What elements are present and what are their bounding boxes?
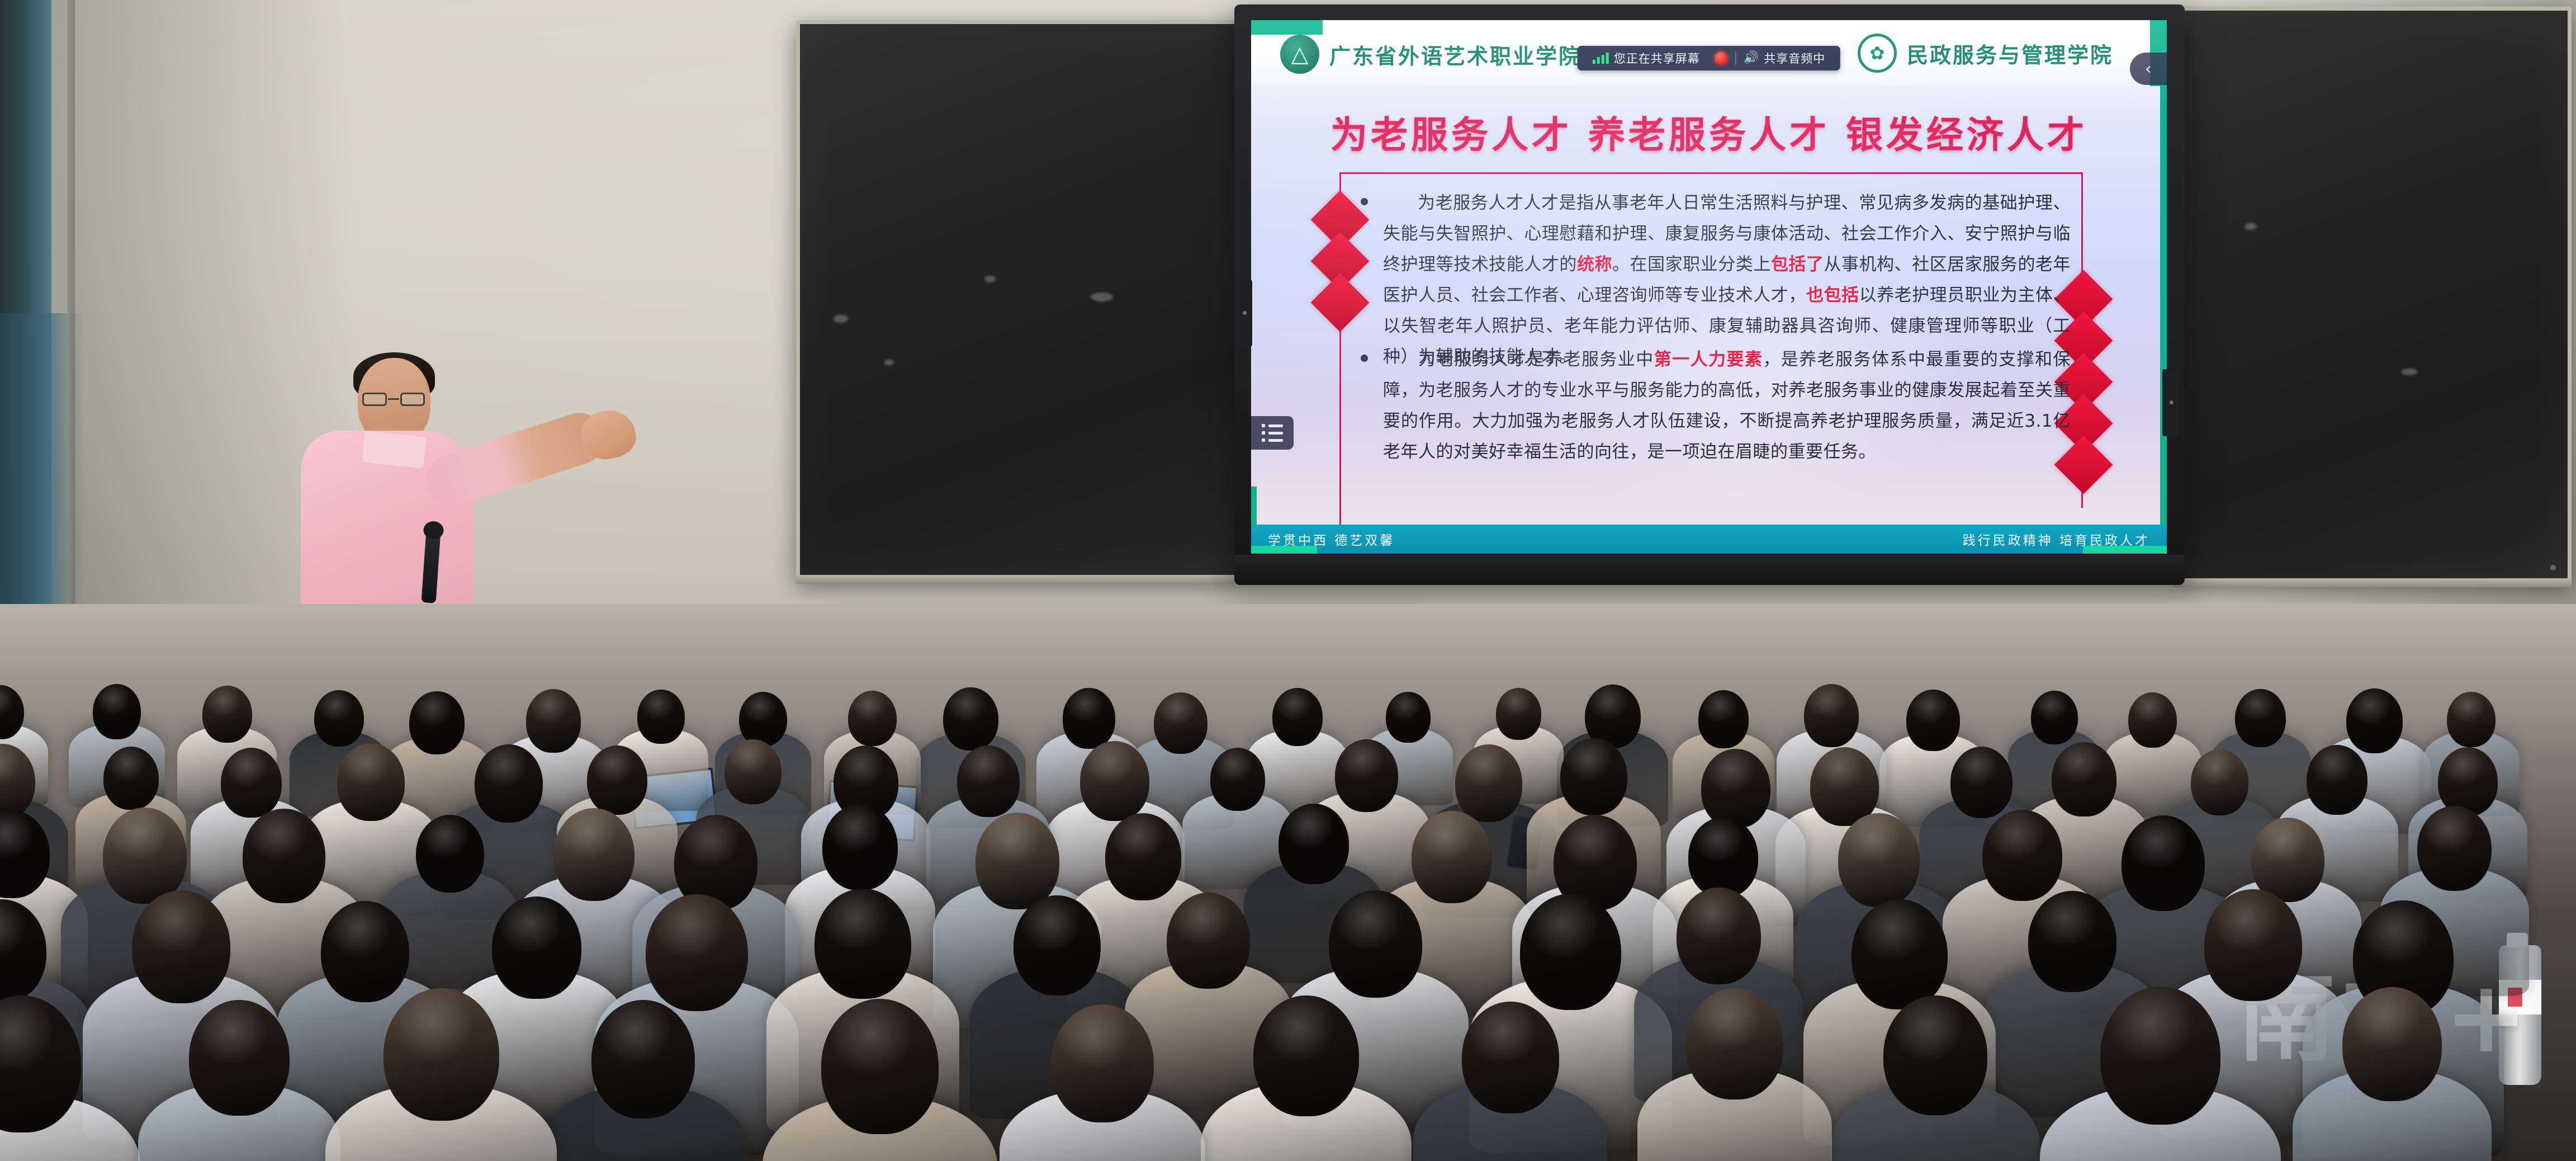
audience-head (1063, 688, 1116, 748)
institute-logo: ✿ 民政服务与管理学院 (1858, 34, 2113, 73)
audience-area (0, 604, 2576, 1161)
highlighted-text: 统称 (1577, 254, 1612, 275)
audience-head (1688, 817, 1759, 898)
display-screen[interactable]: △ 广东省外语艺术职业学院 ✿ 民政服务与管理学院 您正在共享屏幕 (1251, 20, 2167, 554)
blackboard-right (2173, 7, 2572, 583)
audience-head (321, 901, 409, 1002)
audience-head (2128, 692, 2177, 748)
audience-head (492, 896, 581, 999)
list-menu-icon[interactable] (1251, 416, 1294, 450)
audience-head (243, 809, 325, 903)
audience-head (1560, 738, 1627, 815)
audience-head (587, 745, 647, 815)
audience-head (1906, 690, 1960, 751)
audience-head (1804, 684, 1859, 747)
audio-status-text: 共享音频中 (1764, 50, 1825, 67)
footer-accent-right (2083, 546, 2167, 554)
audience-head (314, 690, 363, 747)
audience-head (957, 745, 1020, 817)
audience-head (1701, 749, 1770, 828)
audience-member (1201, 995, 1412, 1161)
screen-share-indicator[interactable]: 您正在共享屏幕 🔊 共享音频中 (1578, 46, 1840, 70)
audience-head (202, 686, 252, 743)
audience-head (1950, 747, 2012, 818)
audience-member (539, 1000, 747, 1161)
presenter-arm (420, 406, 612, 512)
audience-head (591, 1000, 695, 1119)
audience-head (1210, 748, 1266, 811)
speaker-icon: 🔊 (1744, 52, 1759, 64)
audience-head (1014, 895, 1101, 995)
audience-head (1167, 893, 1251, 989)
slide-title: 为老服务人才 养老服务人才 银发经济人才 (1251, 105, 2167, 159)
audience-head (1278, 804, 1348, 884)
audience-head (1253, 995, 1358, 1116)
record-dot-icon[interactable] (1715, 51, 1728, 65)
university-crest-icon: △ (1280, 35, 1319, 74)
bullet-marker (1361, 355, 1368, 362)
audience-head (1080, 741, 1150, 821)
display-side-button-left[interactable] (1235, 280, 1252, 347)
audience-head (2235, 689, 2286, 747)
presenter-collar (362, 431, 426, 468)
door-frame (67, 0, 75, 699)
audience-member (763, 999, 998, 1161)
audience-head (646, 894, 747, 1011)
audience-head (1412, 811, 1492, 903)
audience-head (848, 691, 897, 746)
audience-head (821, 999, 939, 1134)
audience-head (943, 687, 998, 751)
audience-member (1637, 988, 1832, 1161)
slide-accent-edge-right (2160, 20, 2167, 554)
audience-head (2342, 987, 2442, 1101)
display-side-button-right[interactable] (2162, 369, 2179, 436)
audience-head (2417, 806, 2492, 891)
record-segment[interactable] (1707, 51, 1735, 65)
audience-head (1851, 899, 1948, 1009)
audience-head (2028, 891, 2116, 992)
institute-crest-icon: ✿ (1858, 34, 1897, 73)
chalk-tray-right (2173, 578, 2572, 587)
audience-head (416, 815, 484, 893)
audience-head (1386, 692, 1430, 743)
audience-member (2040, 987, 2281, 1161)
audience-head (1496, 688, 1541, 740)
footer-accent-left (1251, 546, 1317, 554)
audience-head (1838, 813, 1920, 907)
blackboard-left (796, 20, 1243, 579)
audience-head (2031, 691, 2077, 744)
presentation-slide: △ 广东省外语艺术职业学院 ✿ 民政服务与管理学院 您正在共享屏幕 (1251, 20, 2167, 554)
audience-head (739, 692, 787, 747)
audience-head (526, 689, 581, 752)
share-status-text: 您正在共享屏幕 (1614, 50, 1700, 67)
slide-footer: 学贯中西 德艺双馨 践行民政精神 培育民政人才 (1251, 525, 2167, 554)
audience-head (189, 1000, 290, 1116)
chevron-left-icon[interactable]: ‹ (2130, 53, 2167, 85)
audience-head (1677, 888, 1761, 984)
audience-head (132, 890, 230, 1003)
display-chin (1234, 555, 2185, 585)
highlighted-text: 也包括 (1806, 285, 1859, 305)
audience-member (0, 995, 140, 1161)
audience-head (383, 988, 499, 1121)
audience-head (976, 813, 1060, 909)
audience-head (1686, 988, 1783, 1100)
institute-logo-text: 民政服务与管理学院 (1907, 38, 2113, 69)
display-power-led (2550, 565, 2556, 570)
audience-head (1051, 1004, 1154, 1122)
audience-head (2307, 745, 2367, 815)
audience-head (93, 684, 141, 739)
audience-head (103, 747, 159, 810)
university-logo: △ 广东省外语艺术职业学院 (1280, 35, 1581, 74)
audience-member (138, 1000, 340, 1161)
audience-head (1520, 894, 1621, 1010)
slide-accent-corner-topleft (1251, 20, 1323, 35)
audio-status-segment: 🔊 共享音频中 (1736, 50, 1832, 67)
slide-paragraph: 为老服务人才是养老服务业中第一人力要素，是养老服务体系中最重要的支撑和保障，为老… (1383, 344, 2071, 468)
audience-head (1698, 690, 1749, 748)
chalk-tray-left (796, 575, 1243, 584)
screenshot-root: △ 广东省外语艺术职业学院 ✿ 民政服务与管理学院 您正在共享屏幕 (0, 0, 2576, 1161)
audience-head (553, 808, 634, 901)
university-logo-text: 广东省外语艺术职业学院 (1329, 39, 1581, 70)
bullet-marker (1361, 198, 1368, 205)
audience-head (2191, 749, 2248, 815)
audience-head (103, 808, 187, 904)
audience-head (2447, 692, 2495, 747)
audience-head (1272, 688, 1323, 746)
audience-head (815, 889, 911, 999)
share-status-segment: 您正在共享屏幕 (1585, 50, 1707, 67)
audience-head (221, 748, 282, 818)
audience-member (1413, 1002, 1607, 1161)
presenter-glasses (362, 393, 425, 407)
audience-head (2204, 889, 2302, 1001)
audience-head (1455, 744, 1523, 822)
audience-head (2052, 742, 2116, 816)
audience-head (2100, 987, 2220, 1125)
body-text: 为老服务人才是养老服务业中 (1418, 350, 1654, 370)
audience-head (2346, 688, 2403, 754)
audience-head (1105, 813, 1181, 900)
audience-head (1883, 995, 1988, 1115)
audience-member (2293, 987, 2491, 1161)
highlighted-text: 第一人力要素 (1654, 350, 1763, 370)
audience-head (822, 804, 897, 890)
signal-bars-icon (1593, 53, 1609, 64)
audience-member (1000, 1004, 1205, 1161)
highlighted-text: 包括了 (1771, 254, 1824, 275)
audience-head (1982, 810, 2062, 902)
audience-member (1831, 995, 2039, 1161)
body-text: 。在国家职业分类上 (1612, 254, 1771, 275)
audience-member (325, 988, 556, 1161)
audience-head (1329, 890, 1422, 998)
audience-head (1462, 1002, 1559, 1113)
audience-head (724, 739, 782, 805)
audience-head (637, 690, 685, 744)
audience-head (1335, 739, 1398, 812)
